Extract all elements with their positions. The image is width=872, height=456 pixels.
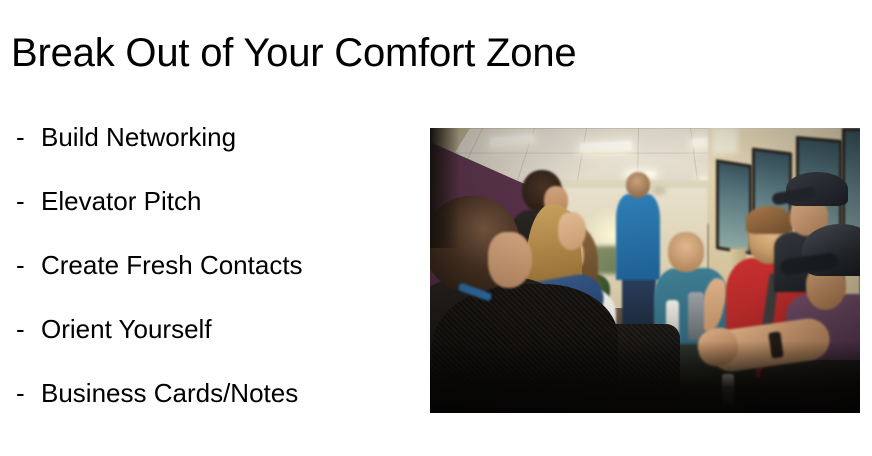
bullet-label: Elevator Pitch — [41, 186, 201, 216]
networking-event-photo — [430, 128, 860, 413]
page-title: Break Out of Your Comfort Zone — [11, 29, 576, 77]
bullet-list: - Build Networking - Elevator Pitch - Cr… — [16, 122, 416, 442]
bullet-marker: - — [16, 186, 41, 216]
bullet-label: Business Cards/Notes — [41, 378, 298, 408]
bullet-label: Orient Yourself — [41, 314, 212, 344]
bullet-marker: - — [16, 314, 41, 344]
bullet-marker: - — [16, 122, 41, 152]
bullet-marker: - — [16, 250, 41, 280]
bullet-label: Create Fresh Contacts — [41, 250, 303, 280]
list-item: - Elevator Pitch — [16, 186, 416, 250]
vignette — [430, 128, 860, 413]
list-item: - Create Fresh Contacts — [16, 250, 416, 314]
bullet-label: Build Networking — [41, 122, 236, 152]
presentation-slide: Break Out of Your Comfort Zone - Build N… — [0, 0, 872, 456]
bullet-marker: - — [16, 378, 41, 408]
list-item: - Orient Yourself — [16, 314, 416, 378]
list-item: - Build Networking — [16, 122, 416, 186]
list-item: - Business Cards/Notes — [16, 378, 416, 442]
photo-scene — [430, 128, 860, 413]
